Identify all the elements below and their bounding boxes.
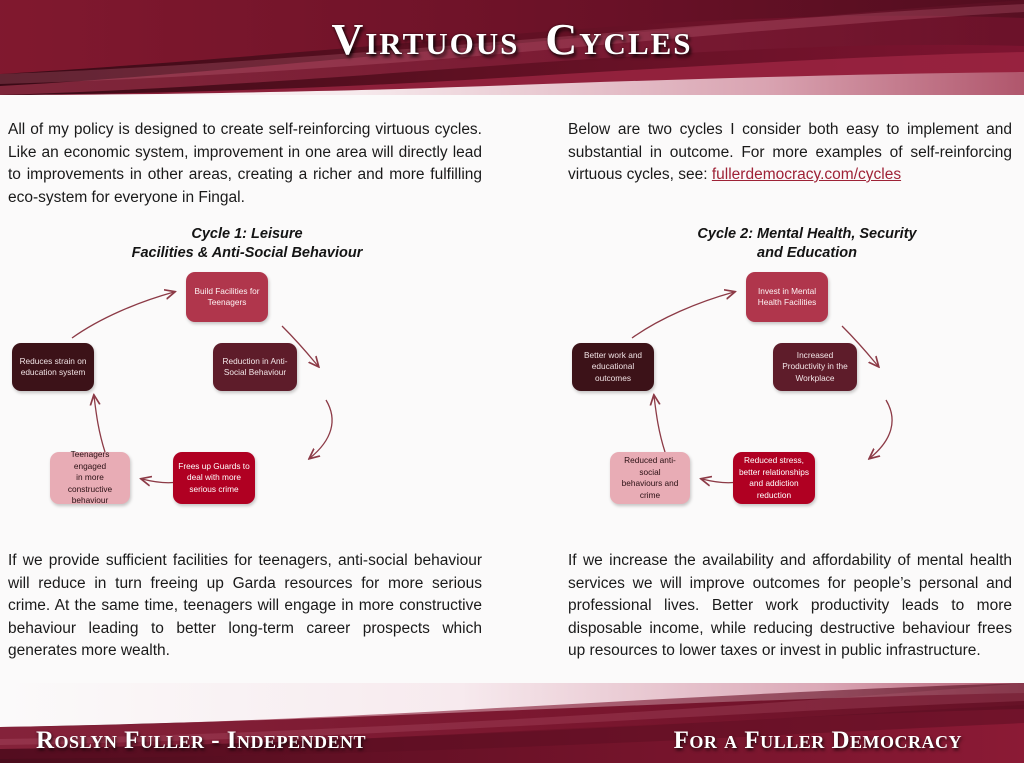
node-label: Frees up Guards to deal with more seriou… [178,461,249,496]
page-content: All of my policy is designed to create s… [0,95,1024,695]
node-label: Reduces strain on education system [20,356,87,379]
left-conclusion-paragraph: If we provide sufficient facilities for … [8,550,482,663]
node-invest-mental-health: Invest in Mental Health Facilities [746,272,828,322]
node-label: Reduced stress, better relationships and… [739,455,809,501]
node-label: Teenagers engaged in more constructive b… [55,449,125,507]
node-label: Invest in Mental Health Facilities [758,286,817,309]
page-footer: Roslyn Fuller - Independent For a Fuller… [0,683,1024,763]
fullerdemocracy-link[interactable]: fullerdemocracy.com/cycles [712,166,901,183]
arrow-right-to-botright [310,400,332,458]
node-better-work: Better work and educational outcomes [572,343,654,391]
cycle-2-diagram: Invest in Mental Health Facilities Bette… [568,270,1024,535]
right-conclusion-paragraph: If we increase the availability and affo… [568,550,1012,663]
node-label: Increased Productivity in the Workplace [782,350,847,385]
right-intro-paragraph: Below are two cycles I consider both eas… [568,119,1012,187]
page-header: Virtuous Cycles [0,0,1024,95]
arrow-left-to-top [72,292,174,338]
node-reduction-antisocial: Reduction in Anti- Social Behaviour [213,343,297,391]
node-label: Reduced anti-social behaviours and crime [615,455,685,501]
cycle-2-title: Cycle 2: Mental Health, Security and Edu… [568,225,1024,263]
footer-candidate-name: Roslyn Fuller - Independent [36,727,366,755]
footer-slogan: For a Fuller Democracy [674,727,962,755]
node-increased-productivity: Increased Productivity in the Workplace [773,343,857,391]
arrow-botleft-to-left [94,396,105,452]
cycle-1-title: Cycle 1: Leisure Facilities & Anti-Socia… [8,225,486,263]
node-reduced-stress: Reduced stress, better relationships and… [733,452,815,504]
node-build-facilities: Build Facilities for Teenagers [186,272,268,322]
left-intro-paragraph: All of my policy is designed to create s… [8,119,482,209]
node-teenagers-engaged: Teenagers engaged in more constructive b… [50,452,130,504]
node-frees-guards: Frees up Guards to deal with more seriou… [173,452,255,504]
node-label: Build Facilities for Teenagers [194,286,259,309]
node-reduced-antisocial: Reduced anti-social behaviours and crime [610,452,690,504]
arrow-botleft-to-left [654,396,665,452]
arrow-right-to-botright [870,400,892,458]
node-reduces-strain: Reduces strain on education system [12,343,94,391]
arrow-left-to-top [632,292,734,338]
page-title: Virtuous Cycles [0,14,1024,65]
node-label: Reduction in Anti- Social Behaviour [222,356,287,379]
cycle-1-diagram: Build Facilities for Teenagers Reduces s… [8,270,486,535]
node-label: Better work and educational outcomes [584,350,642,385]
